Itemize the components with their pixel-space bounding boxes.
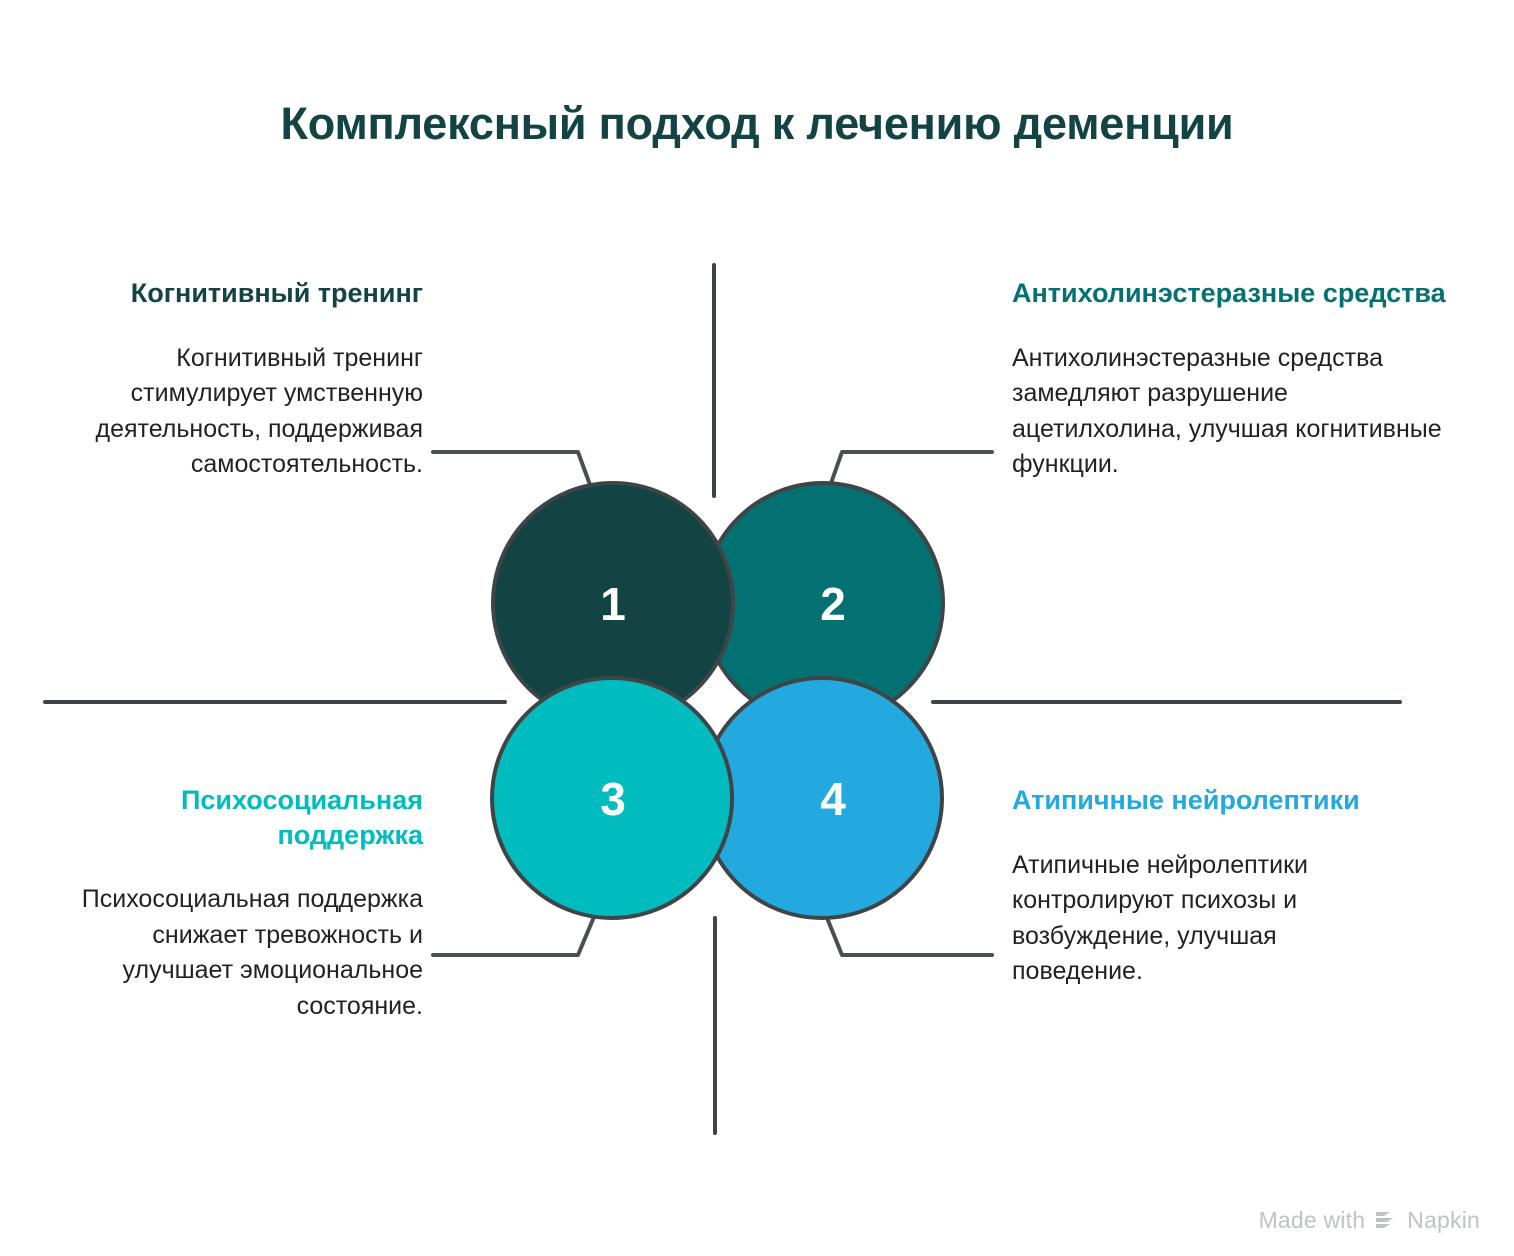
napkin-logo-icon [1374, 1210, 1398, 1232]
quadrant-3-body: Психосоциальная поддержка снижает тревож… [55, 882, 423, 1024]
quadrant-top-left: Когнитивный тренинг Когнитивный тренинг … [68, 276, 423, 483]
page-title: Комплексный подход к лечению деменции [0, 98, 1514, 150]
quadrant-4-body: Атипичные нейролептики контролируют псих… [1012, 848, 1412, 990]
quadrant-bottom-left: Психосоциальная поддержка Психосоциальна… [55, 783, 423, 1024]
quadrant-1-body: Когнитивный тренинг стимулирует умственн… [68, 341, 423, 483]
quadrant-2-heading: Антихолинэстеразные средства [1012, 276, 1452, 311]
watermark-brand-label: Napkin [1407, 1207, 1480, 1234]
quadrant-3-heading: Психосоциальная поддержка [55, 783, 423, 852]
watermark-made-with-label: Made with [1259, 1207, 1366, 1234]
quadrant-bottom-right: Атипичные нейролептики Атипичные нейроле… [1012, 783, 1412, 990]
venn-diagram: 1 2 3 4 [0, 0, 1514, 1256]
napkin-watermark: Made with Napkin [1259, 1207, 1480, 1234]
infographic-canvas: Комплексный подход к лечению деменции Ко… [0, 0, 1514, 1256]
venn-circle-3[interactable] [492, 678, 732, 918]
quadrant-2-body: Антихолинэстеразные средства замедляют р… [1012, 341, 1452, 483]
quadrant-top-right: Антихолинэстеразные средства Антихолинэс… [1012, 276, 1452, 483]
quadrant-1-heading: Когнитивный тренинг [68, 276, 423, 311]
quadrant-4-heading: Атипичные нейролептики [1012, 783, 1412, 818]
venn-circle-4[interactable] [702, 678, 942, 918]
